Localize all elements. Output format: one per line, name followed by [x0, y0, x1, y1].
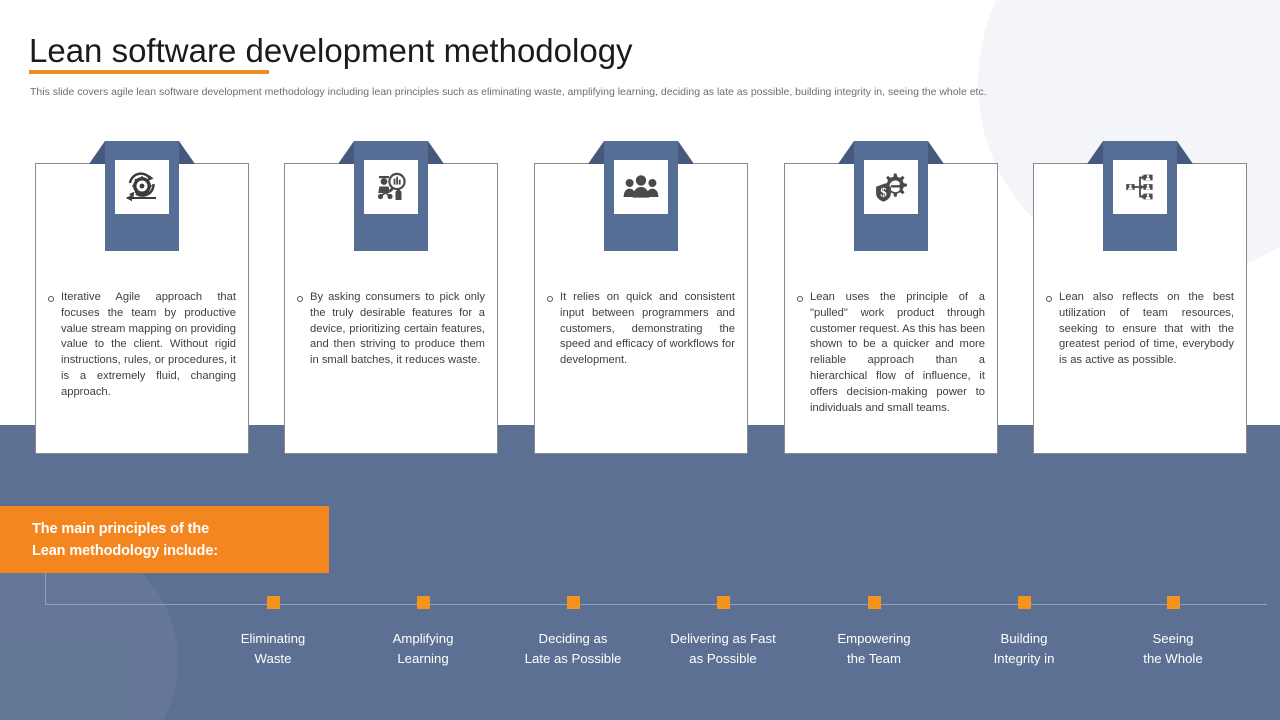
card-5[interactable]: Lean also reflects on the best utilizati… — [1033, 163, 1247, 454]
timeline-item-2[interactable]: Amplifying Learning — [348, 596, 498, 669]
card-2-ribbon — [338, 141, 444, 251]
timeline-label-4: Delivering as Fast as Possible — [648, 629, 798, 669]
card-4-body: Lean uses the principle of a "pulled" wo… — [785, 290, 997, 416]
timeline-item-5[interactable]: Empowering the Team — [799, 596, 949, 669]
timeline-label-7: Seeing the Whole — [1098, 629, 1248, 669]
timeline-marker-icon — [417, 596, 430, 609]
callout-line-2: Lean methodology include: — [32, 540, 218, 562]
card-2-body: By asking consumers to pick only the tru… — [285, 290, 497, 369]
timeline-marker-icon — [267, 596, 280, 609]
card-2-text: By asking consumers to pick only the tru… — [310, 290, 485, 369]
page-title: Lean software development methodology — [29, 32, 633, 70]
card-1-text: Iterative Agile approach that focuses th… — [61, 290, 236, 401]
card-2[interactable]: By asking consumers to pick only the tru… — [284, 163, 498, 454]
ribbon-tail-right — [179, 141, 195, 164]
card-3[interactable]: It relies on quick and consistent input … — [534, 163, 748, 454]
bullet-icon — [1046, 296, 1052, 302]
ribbon-body: $ — [854, 141, 928, 251]
gear-cycle-icon — [115, 160, 169, 214]
ribbon-tail-right — [428, 141, 444, 164]
ribbon-body — [354, 141, 428, 251]
card-5-ribbon — [1087, 141, 1193, 251]
main-principles-callout: The main principles of the Lean methodol… — [0, 506, 329, 573]
timeline-item-1[interactable]: Eliminating Waste — [198, 596, 348, 669]
cards-container: Iterative Agile approach that focuses th… — [0, 140, 1280, 460]
timeline-label-5: Empowering the Team — [799, 629, 949, 669]
page-subtitle: This slide covers agile lean software de… — [30, 86, 987, 98]
gear-shield-dollar-icon: $ — [864, 160, 918, 214]
card-3-ribbon — [588, 141, 694, 251]
ribbon-body — [1103, 141, 1177, 251]
card-5-body: Lean also reflects on the best utilizati… — [1034, 290, 1246, 369]
bullet-icon — [797, 296, 803, 302]
card-3-body: It relies on quick and consistent input … — [535, 290, 747, 369]
team-group-icon — [614, 160, 668, 214]
card-1-ribbon — [89, 141, 195, 251]
card-4-ribbon: $ — [838, 141, 944, 251]
timeline-marker-icon — [868, 596, 881, 609]
bullet-icon — [547, 296, 553, 302]
timeline-label-6: Building Integrity in — [949, 629, 1099, 669]
timeline: Eliminating Waste Amplifying Learning De… — [0, 596, 1280, 706]
card-4[interactable]: $ Lean uses the principle of a "pulled" … — [784, 163, 998, 454]
timeline-item-4[interactable]: Delivering as Fast as Possible — [648, 596, 798, 669]
card-3-text: It relies on quick and consistent input … — [560, 290, 735, 369]
ribbon-tail-right — [928, 141, 944, 164]
callout-text: The main principles of the Lean methodol… — [0, 518, 218, 562]
bullet-icon — [48, 296, 54, 302]
org-chart-icon — [1113, 160, 1167, 214]
timeline-marker-icon — [717, 596, 730, 609]
timeline-label-3: Deciding as Late as Possible — [498, 629, 648, 669]
card-1[interactable]: Iterative Agile approach that focuses th… — [35, 163, 249, 454]
title-underline — [29, 70, 269, 74]
ribbon-body — [105, 141, 179, 251]
bullet-icon — [297, 296, 303, 302]
timeline-item-6[interactable]: Building Integrity in — [949, 596, 1099, 669]
timeline-label-2: Amplifying Learning — [348, 629, 498, 669]
ribbon-tail-left — [838, 141, 854, 164]
timeline-label-1: Eliminating Waste — [198, 629, 348, 669]
timeline-marker-icon — [1167, 596, 1180, 609]
timeline-marker-icon — [567, 596, 580, 609]
ribbon-tail-right — [1177, 141, 1193, 164]
ribbon-tail-left — [89, 141, 105, 164]
ribbon-body — [604, 141, 678, 251]
card-1-body: Iterative Agile approach that focuses th… — [36, 290, 248, 401]
timeline-marker-icon — [1018, 596, 1031, 609]
svg-text:$: $ — [880, 184, 887, 199]
slide-root: Lean software development methodology Th… — [0, 0, 1280, 720]
ribbon-tail-left — [588, 141, 604, 164]
card-5-text: Lean also reflects on the best utilizati… — [1059, 290, 1234, 369]
timeline-item-3[interactable]: Deciding as Late as Possible — [498, 596, 648, 669]
research-magnifier-icon — [364, 160, 418, 214]
card-4-text: Lean uses the principle of a "pulled" wo… — [810, 290, 985, 416]
timeline-item-7[interactable]: Seeing the Whole — [1098, 596, 1248, 669]
ribbon-tail-left — [338, 141, 354, 164]
ribbon-tail-left — [1087, 141, 1103, 164]
ribbon-tail-right — [678, 141, 694, 164]
callout-line-1: The main principles of the — [32, 518, 218, 540]
